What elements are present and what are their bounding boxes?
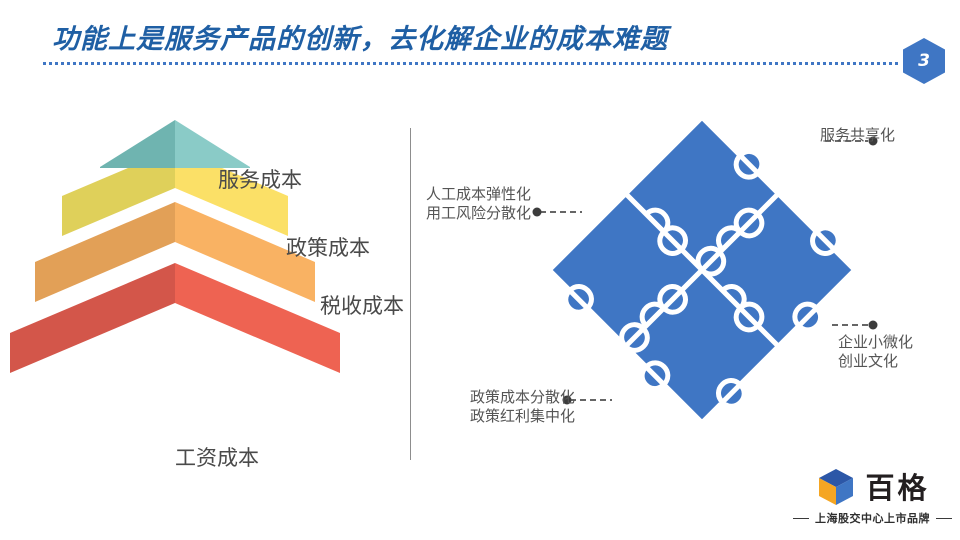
tagline-rule-right — [936, 518, 952, 519]
tagline-rule-left — [793, 518, 809, 519]
pyramid-label-tax-cost: 税收成本 — [320, 290, 404, 320]
pyramid-label-wage-cost: 工资成本 — [175, 442, 259, 472]
brand-logo: 百格 上海股交中心上市品牌 — [790, 464, 955, 534]
puzzle-diagram: 服务共享化 人工成本弹性化 用工风险分散化 企业小微化 创业文化 政策成本分散化… — [420, 100, 960, 460]
logo-tagline: 上海股交中心上市品牌 — [815, 510, 930, 526]
logo-tagline-row: 上海股交中心上市品牌 — [790, 510, 955, 526]
title-dotted-rule — [43, 62, 898, 65]
callout-line-2: 创业文化 — [838, 352, 913, 371]
pyramid-label-service-cost: 服务成本 — [218, 164, 302, 194]
callout-enterprise-micro: 企业小微化 创业文化 — [838, 333, 913, 371]
logo-wordmark: 百格 — [865, 465, 929, 507]
pyramid-level-0 — [100, 120, 250, 168]
callout-line-2: 政策红利集中化 — [470, 407, 575, 426]
pyramid-label-policy-cost: 政策成本 — [286, 232, 370, 262]
callout-leader-bottom-right — [832, 321, 878, 330]
callout-leader-left — [533, 208, 583, 217]
callout-line-1: 服务共享化 — [820, 126, 895, 145]
page-number-badge: 3 — [903, 38, 945, 84]
callout-policy-cost: 政策成本分散化 政策红利集中化 — [470, 388, 575, 426]
cost-pyramid-diagram: 服务成本 政策成本 税收成本 工资成本 — [0, 110, 410, 490]
page-title: 功能上是服务产品的创新，去化解企业的成本难题 — [52, 17, 668, 56]
callout-service-sharing: 服务共享化 — [820, 126, 895, 145]
callout-labor-cost: 人工成本弹性化 用工风险分散化 — [426, 185, 531, 223]
callout-line-1: 人工成本弹性化 — [426, 185, 531, 204]
logo-mark-row: 百格 — [790, 464, 955, 508]
callout-line-1: 政策成本分散化 — [470, 388, 575, 407]
page-number-text: 3 — [918, 51, 930, 71]
section-divider — [410, 128, 411, 460]
slide-header: 功能上是服务产品的创新，去化解企业的成本难题 3 — [0, 0, 960, 92]
cube-icon — [815, 465, 857, 507]
callout-line-1: 企业小微化 — [838, 333, 913, 352]
callout-line-2: 用工风险分散化 — [426, 204, 531, 223]
